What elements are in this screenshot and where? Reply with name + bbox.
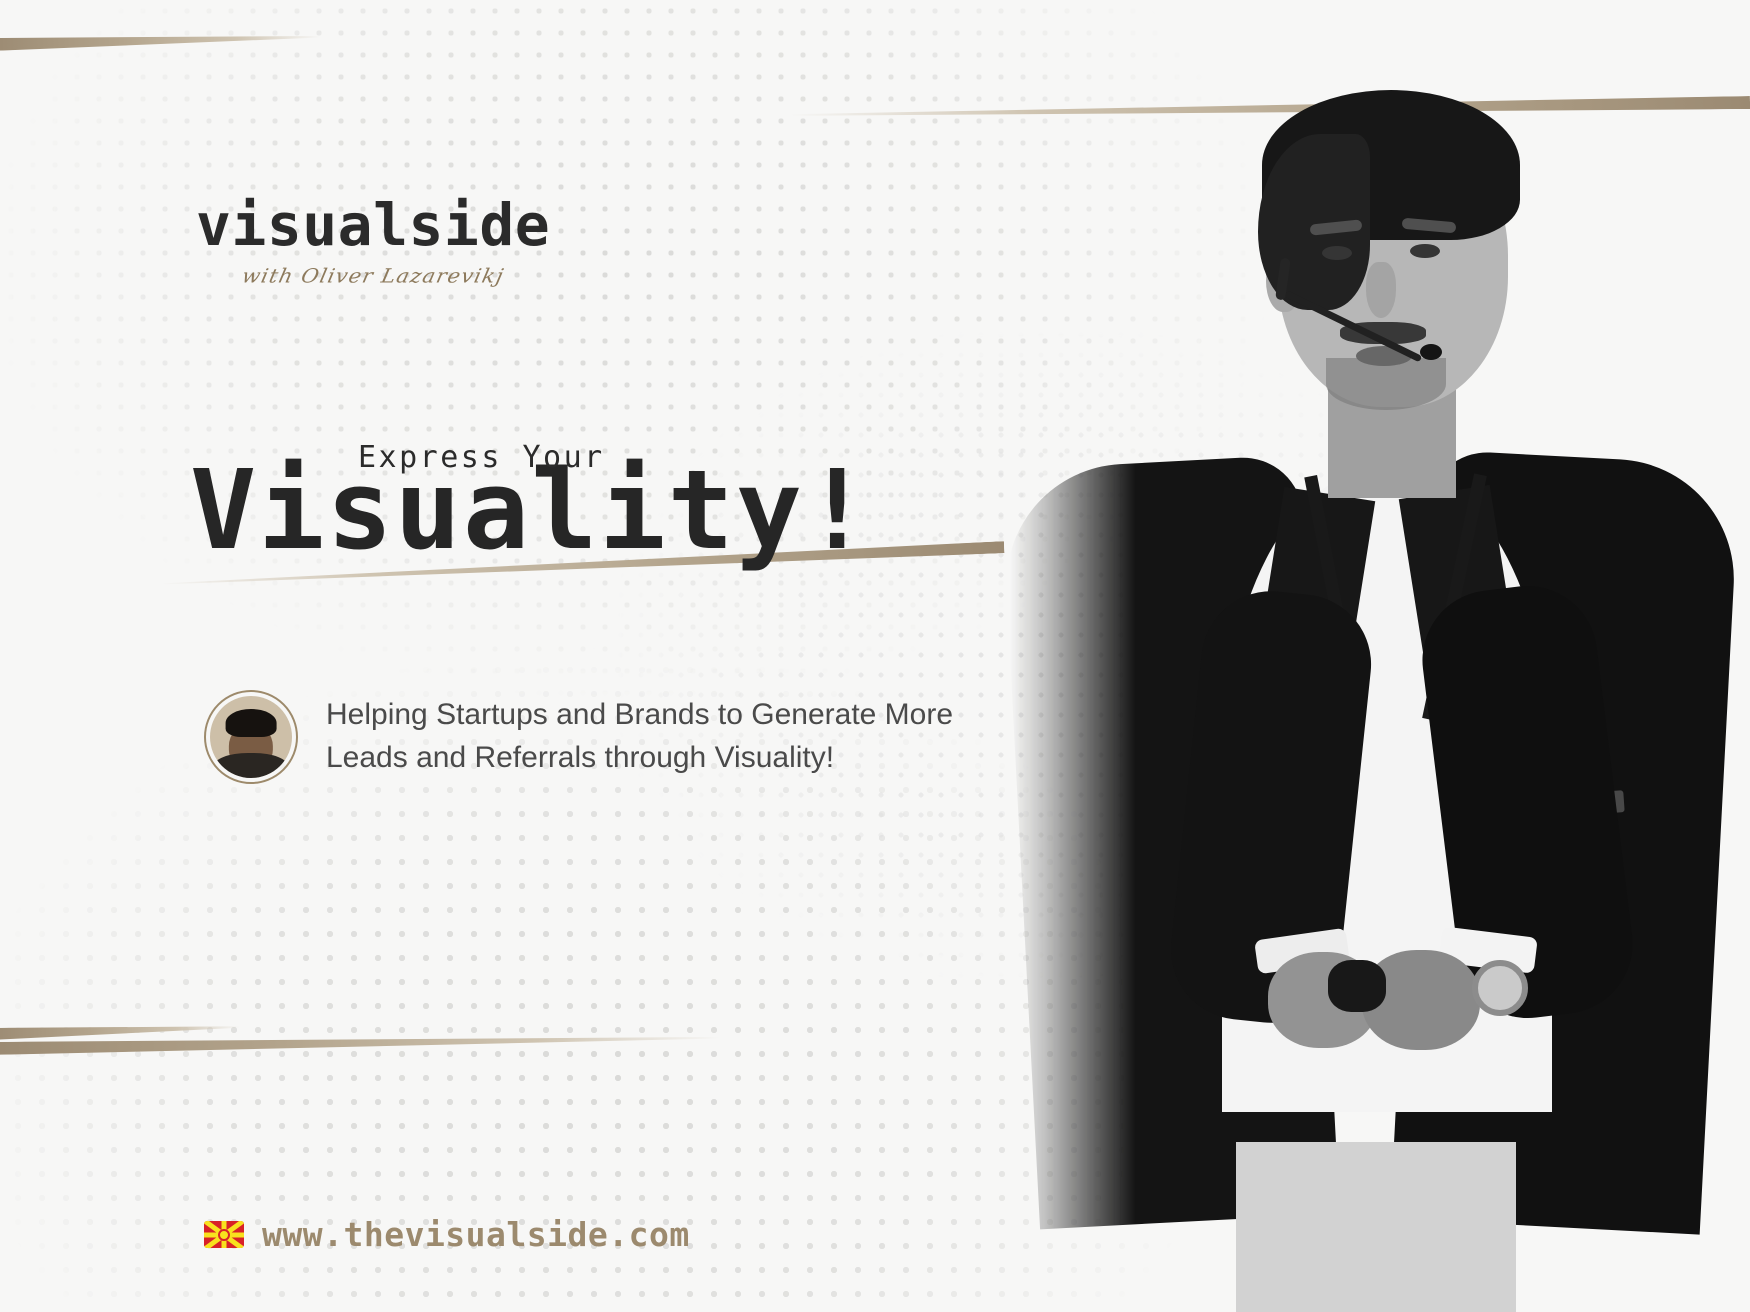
website-url[interactable]: www.thevisualside.com bbox=[262, 1215, 690, 1254]
gold-slash-bottom-left bbox=[0, 1031, 720, 1055]
profile-description-row: Helping Startups and Brands to Generate … bbox=[204, 690, 953, 784]
brand-name: visualside bbox=[196, 196, 550, 254]
gold-slash-top-left bbox=[0, 30, 320, 51]
speaker-portrait-photo bbox=[1010, 22, 1750, 1312]
north-macedonia-flag-icon bbox=[204, 1221, 244, 1248]
footer: www.thevisualside.com bbox=[204, 1215, 690, 1254]
headset-mic-capsule bbox=[1420, 344, 1442, 360]
avatar-image bbox=[210, 696, 292, 778]
slide-canvas: visualside with Oliver Lazarevikj Expres… bbox=[0, 0, 1750, 1312]
wristwatch bbox=[1472, 960, 1528, 1016]
gold-slash-mid-left bbox=[0, 1021, 240, 1040]
avatar-shoulders bbox=[213, 753, 288, 778]
profile-description-line-1: Helping Startups and Brands to Generate … bbox=[326, 694, 953, 737]
headline-eyebrow: Express Your bbox=[358, 440, 605, 475]
presenter-clicker bbox=[1328, 960, 1386, 1012]
brand-tagline: with Oliver Lazarevikj bbox=[194, 265, 553, 287]
eye-right bbox=[1410, 244, 1440, 258]
trousers bbox=[1236, 1142, 1516, 1312]
avatar-hair bbox=[226, 709, 277, 737]
profile-description: Helping Startups and Brands to Generate … bbox=[326, 694, 953, 779]
profile-description-line-2: Leads and Referrals through Visuality! bbox=[326, 737, 953, 780]
eye-left bbox=[1322, 246, 1352, 260]
avatar bbox=[204, 690, 298, 784]
nose bbox=[1366, 262, 1396, 318]
brand-logo: visualside with Oliver Lazarevikj bbox=[196, 196, 550, 288]
